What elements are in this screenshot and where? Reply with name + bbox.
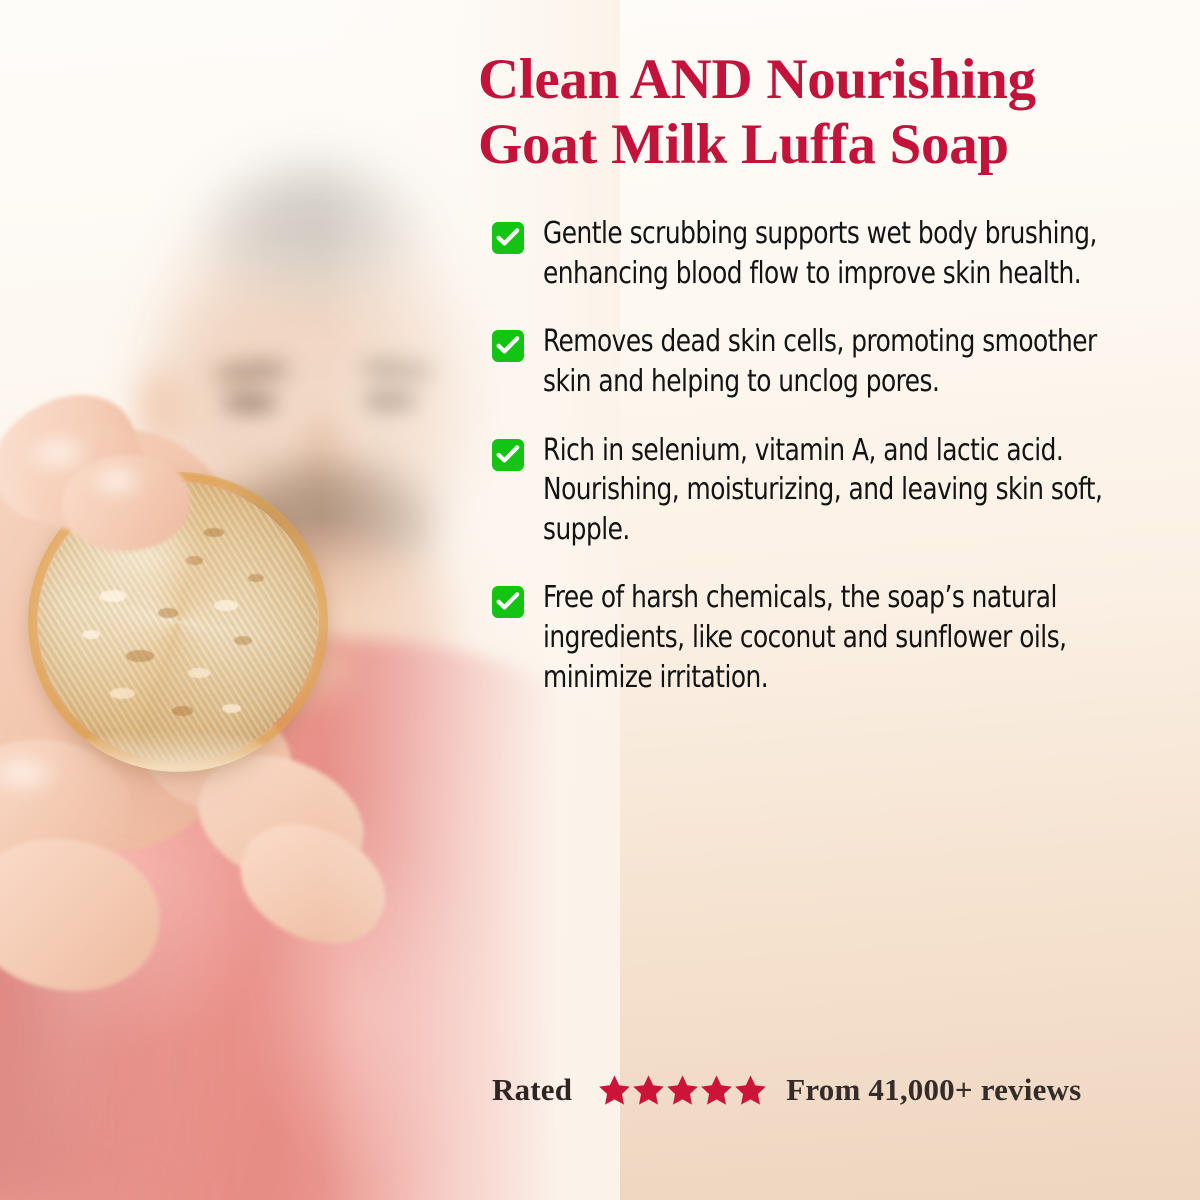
star-filled-icon <box>596 1073 633 1108</box>
content-column: Clean AND Nourishing Goat Milk Luffa Soa… <box>478 0 1200 1200</box>
list-item: Removes dead skin cells, promoting smoot… <box>492 322 1200 401</box>
eye-left <box>222 392 278 414</box>
benefit-text: Free of harsh chemicals, the soap’s natu… <box>543 578 1138 697</box>
benefit-text: Removes dead skin cells, promoting smoot… <box>543 322 1138 401</box>
check-square-icon <box>492 222 524 254</box>
reviews-count-label: From 41,000+ reviews <box>786 1072 1081 1108</box>
eye-right <box>364 390 420 412</box>
benefit-text: Rich in selenium, vitamin A, and lactic … <box>543 431 1138 550</box>
check-square-icon <box>492 330 524 362</box>
knuckle-highlight <box>86 462 162 516</box>
check-square-icon <box>492 586 524 618</box>
list-item: Gentle scrubbing supports wet body brush… <box>492 214 1200 293</box>
headline-line-1: Clean AND Nourishing <box>478 48 1036 111</box>
star-filled-icon <box>630 1073 667 1108</box>
star-filled-icon <box>732 1073 769 1108</box>
star-filled-icon <box>698 1073 735 1108</box>
star-rating <box>596 1073 766 1108</box>
benefits-list: Gentle scrubbing supports wet body brush… <box>478 178 1200 697</box>
star-filled-icon <box>664 1073 701 1108</box>
benefit-text: Gentle scrubbing supports wet body brush… <box>543 214 1138 293</box>
list-item: Rich in selenium, vitamin A, and lactic … <box>492 431 1200 550</box>
rated-label: Rated <box>492 1072 572 1108</box>
check-square-icon <box>492 439 524 471</box>
product-infographic: Clean AND Nourishing Goat Milk Luffa Soa… <box>0 0 1200 1200</box>
headline-line-2: Goat Milk Luffa Soap <box>478 113 1200 178</box>
list-item: Free of harsh chemicals, the soap’s natu… <box>492 578 1200 697</box>
page-title: Clean AND Nourishing Goat Milk Luffa Soa… <box>478 0 1200 178</box>
rating-footer: Rated From 41,000+ reviews <box>492 1072 1081 1108</box>
soap-bottom-edge <box>70 730 270 772</box>
